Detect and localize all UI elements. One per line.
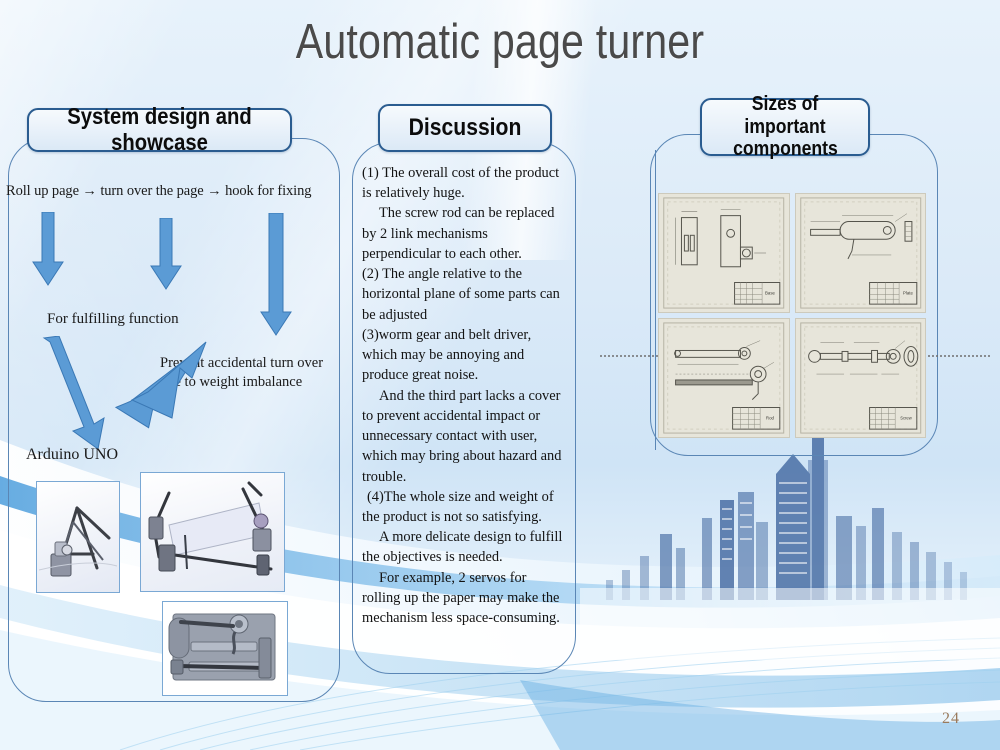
middle-panel-heading-text: Discussion <box>409 115 522 142</box>
left-panel-heading-text: System design and showcase <box>45 104 275 156</box>
discussion-paragraph: (4)The whole size and weight of the prod… <box>362 487 567 527</box>
slide-title: Automatic page turner <box>80 14 920 70</box>
cad-title-block-label: Plate <box>902 290 913 295</box>
discussion-paragraph: A more delicate design to fulfill the ob… <box>362 527 567 567</box>
cad-title-block-label: Rod <box>766 415 775 420</box>
cad-title-block-label: Screw <box>900 415 911 420</box>
panel-divider-line <box>655 150 656 450</box>
cad-drawing-long-rod: Rod <box>658 318 790 438</box>
down-arrow-1 <box>30 212 66 286</box>
diagonal-arrow-thick <box>80 340 210 450</box>
dotted-guide-left <box>600 355 658 357</box>
right-panel-heading-line2: components <box>733 138 838 160</box>
dotted-guide-right <box>928 355 990 357</box>
flow-sequence-text: Roll up page → turn over the page → hook… <box>6 183 336 200</box>
discussion-paragraph: (3)worm gear and belt driver, which may … <box>362 325 567 386</box>
photo-cad-render-drive-unit <box>162 601 288 696</box>
slide-canvas: Automatic page turner System design and … <box>0 0 1000 750</box>
label-for-fulfilling-function: For fulfilling function <box>47 311 179 328</box>
right-panel-heading: Sizes of important components <box>700 98 870 156</box>
page-number: 24 <box>942 710 960 728</box>
left-panel-heading: System design and showcase <box>27 108 292 152</box>
down-arrow-3 <box>258 213 294 336</box>
discussion-paragraph: For example, 2 servos for rolling up the… <box>362 568 567 629</box>
cad-drawing-shaft-arm: Plate <box>795 193 927 313</box>
discussion-body: (1) The overall cost of the product is r… <box>362 163 567 628</box>
discussion-paragraph: And the third part lacks a cover to prev… <box>362 386 567 487</box>
discussion-paragraph: The screw rod can be replaced by 2 link … <box>362 203 567 264</box>
cad-title-block-label: Base <box>765 290 776 295</box>
city-skyline-graphic <box>580 430 1000 660</box>
discussion-paragraph: (2) The angle relative to the horizontal… <box>362 264 567 325</box>
label-arduino-uno: Arduino UNO <box>26 446 118 464</box>
cad-drawing-grid: Base <box>658 193 926 438</box>
middle-panel-heading: Discussion <box>378 104 552 152</box>
discussion-paragraph: (1) The overall cost of the product is r… <box>362 163 567 203</box>
down-arrow-2 <box>148 218 184 290</box>
right-panel-heading-line1: Sizes of important <box>712 93 858 138</box>
photo-cad-render-full-assembly <box>140 472 285 592</box>
photo-cad-render-mechanism-frame <box>36 481 120 593</box>
cad-drawing-screw-assembly: Screw <box>795 318 927 438</box>
cad-drawing-bracket: Base <box>658 193 790 313</box>
